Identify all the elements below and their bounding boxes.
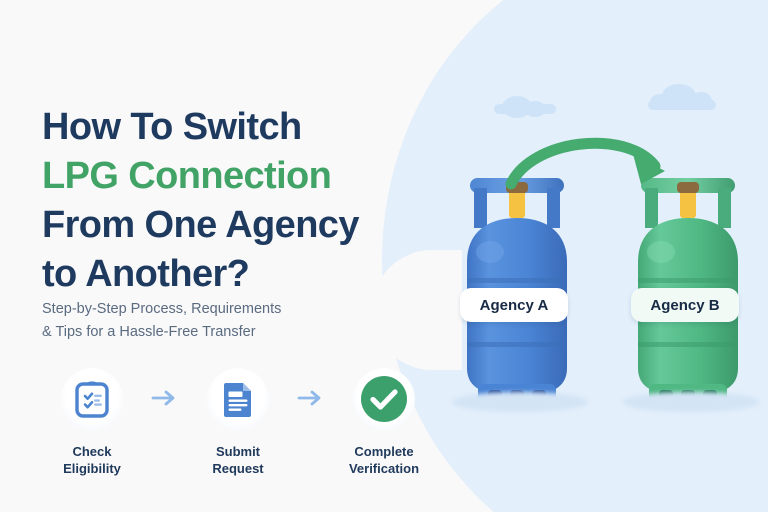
step-2-badge [207, 368, 269, 430]
subtitle: Step-by-Step Process, Requirements & Tip… [42, 298, 281, 344]
step-1-label-line1: Check [72, 444, 111, 459]
headline-line-3: From One Agency [42, 201, 359, 250]
step-3-label-line1: Complete [354, 444, 413, 459]
subtitle-line-1: Step-by-Step Process, Requirements [42, 298, 281, 321]
cylinder-b-label: Agency B [631, 288, 739, 322]
step-check-eligibility[interactable]: Check Eligibility [42, 368, 142, 477]
arrow-right-icon [297, 389, 325, 407]
step-2-label: Submit Request [212, 443, 263, 477]
step-3-label: Complete Verification [349, 443, 419, 477]
step-connector-1 [142, 368, 188, 407]
cylinder-agency-a: Agency A [442, 170, 592, 430]
step-2-label-line1: Submit [216, 444, 260, 459]
curved-arrow-right-icon [505, 118, 675, 193]
headline-line-2: LPG Connection [42, 152, 359, 201]
cylinder-a-label: Agency A [460, 288, 568, 322]
step-1-label: Check Eligibility [63, 443, 121, 477]
cylinder-agency-b: Agency B [613, 170, 763, 430]
document-lines-icon [218, 379, 258, 419]
headline-line-1: How To Switch [42, 103, 359, 152]
subtitle-line-2: & Tips for a Hassle-Free Transfer [42, 321, 281, 344]
step-1-label-line2: Eligibility [63, 461, 121, 476]
step-1-badge [61, 368, 123, 430]
check-circle-icon [359, 374, 409, 424]
clipboard-check-icon [72, 379, 112, 419]
step-submit-request[interactable]: Submit Request [188, 368, 288, 477]
step-3-badge [353, 368, 415, 430]
cloud-icon [494, 92, 556, 114]
step-2-label-line2: Request [212, 461, 263, 476]
cylinder-a-label-text: Agency A [480, 297, 549, 314]
cylinder-b-label-text: Agency B [650, 297, 719, 314]
cloud-icon [648, 84, 716, 110]
headline-line-4: to Another? [42, 250, 359, 299]
poster-canvas: Agency A [0, 0, 768, 512]
step-complete-verification[interactable]: Complete Verification [334, 368, 434, 477]
step-3-label-line2: Verification [349, 461, 419, 476]
arrow-right-icon [151, 389, 179, 407]
step-connector-2 [288, 368, 334, 407]
page-title: How To Switch LPG Connection From One Ag… [42, 103, 359, 299]
steps-row: Check Eligibility [42, 368, 434, 477]
